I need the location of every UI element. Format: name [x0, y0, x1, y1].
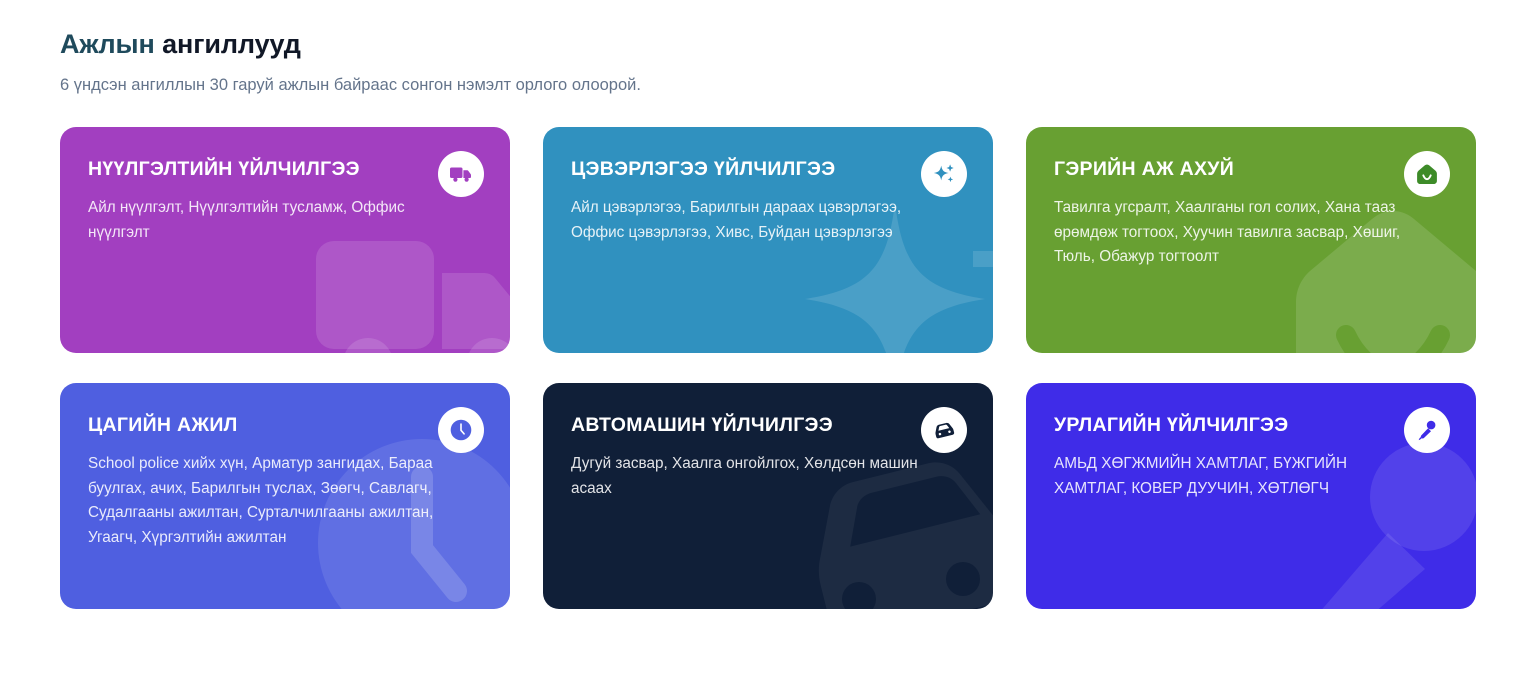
card-description: School police хийх хүн, Арматур зангидах…: [88, 452, 440, 551]
card-description: Айл нүүлгэлт, Нүүлгэлтийн тусламж, Оффис…: [88, 196, 440, 246]
category-card-auto-service[interactable]: АВТОМАШИН ҮЙЛЧИЛГЭЭ Дугуй засвар, Хаалга…: [543, 383, 993, 609]
card-title: ГЭРИЙН АЖ АХУЙ: [1054, 157, 1384, 181]
card-description: АМЬД ХӨГЖМИЙН ХАМТЛАГ, БҮЖГИЙН ХАМТЛАГ, …: [1054, 452, 1406, 502]
page-title: Ажлын ангиллууд: [60, 28, 1476, 60]
truck-icon: [438, 151, 484, 197]
category-card-hourly-work[interactable]: ЦАГИЙН АЖИЛ School police хийх хүн, Арма…: [60, 383, 510, 609]
sparkles-icon: [921, 151, 967, 197]
home-icon: [1404, 151, 1450, 197]
card-title: ЦАГИЙН АЖИЛ: [88, 413, 418, 437]
card-title: УРЛАГИЙН ҮЙЛЧИЛГЭЭ: [1054, 413, 1384, 437]
card-description: Дугуй засвар, Хаалга онгойлгох, Хөлдсөн …: [571, 452, 923, 502]
microphone-icon: [1404, 407, 1450, 453]
category-card-grid: НҮҮЛГЭЛТИЙН ҮЙЛЧИЛГЭЭ Айл нүүлгэлт, Нүүл…: [60, 127, 1476, 609]
page-title-accent: Ажлын: [60, 29, 155, 59]
card-description: Тавилга угсралт, Хаалганы гол солих, Хан…: [1054, 196, 1406, 270]
clock-icon: [438, 407, 484, 453]
card-description: Айл цэвэрлэгээ, Барилгын дараах цэвэрлэг…: [571, 196, 923, 246]
page-subtitle: 6 үндсэн ангиллын 30 гаруй ажлын байраас…: [60, 74, 1476, 97]
job-categories-page: Ажлын ангиллууд 6 үндсэн ангиллын 30 гар…: [0, 0, 1536, 673]
category-card-moving-service[interactable]: НҮҮЛГЭЛТИЙН ҮЙЛЧИЛГЭЭ Айл нүүлгэлт, Нүүл…: [60, 127, 510, 353]
car-icon: [921, 407, 967, 453]
category-card-art-service[interactable]: УРЛАГИЙН ҮЙЛЧИЛГЭЭ АМЬД ХӨГЖМИЙН ХАМТЛАГ…: [1026, 383, 1476, 609]
category-card-household[interactable]: ГЭРИЙН АЖ АХУЙ Тавилга угсралт, Хаалганы…: [1026, 127, 1476, 353]
category-card-cleaning-service[interactable]: ЦЭВЭРЛЭГЭЭ ҮЙЛЧИЛГЭЭ Айл цэвэрлэгээ, Бар…: [543, 127, 993, 353]
card-title: АВТОМАШИН ҮЙЛЧИЛГЭЭ: [571, 413, 901, 437]
card-title: ЦЭВЭРЛЭГЭЭ ҮЙЛЧИЛГЭЭ: [571, 157, 901, 181]
page-title-rest: ангиллууд: [155, 29, 301, 59]
card-title: НҮҮЛГЭЛТИЙН ҮЙЛЧИЛГЭЭ: [88, 157, 418, 181]
